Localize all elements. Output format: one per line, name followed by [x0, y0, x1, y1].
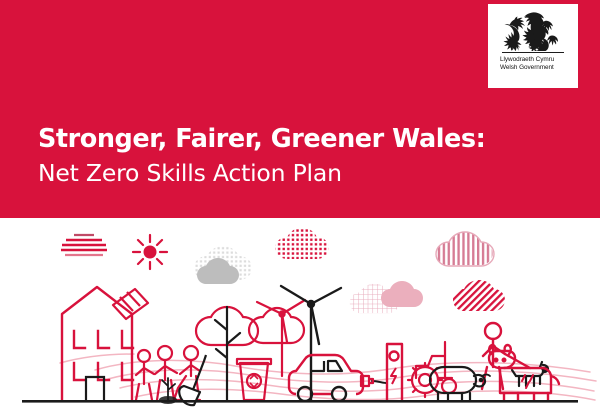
logo-text-english: Welsh Government — [500, 64, 566, 72]
charging-point-icon — [387, 344, 402, 400]
net-zero-illustration — [0, 218, 600, 416]
charging-cable-icon — [372, 381, 387, 383]
dotted-cloud-icon — [268, 224, 342, 270]
car-windows — [310, 361, 342, 371]
pink-striped-cloud-icon — [428, 228, 506, 277]
soft-pink-cloud-icon — [381, 281, 423, 307]
tree-dark-icon — [215, 307, 240, 400]
ground-line — [22, 400, 578, 403]
recycling-bin-icon — [237, 359, 271, 400]
page-subtitle: Net Zero Skills Action Plan — [38, 158, 342, 188]
welsh-dragon-icon — [502, 7, 564, 51]
striped-cloud-icon — [52, 227, 126, 269]
document-cover: Llywodraeth Cymru Welsh Government Stron… — [0, 0, 600, 416]
page-title: Stronger, Fairer, Greener Wales: — [38, 124, 485, 154]
logo-divider — [502, 52, 564, 53]
sun-icon — [133, 235, 167, 269]
tractor-icon — [408, 342, 456, 397]
logo-text-welsh: Llywodraeth Cymru — [500, 56, 566, 64]
hatched-cloud-icon — [447, 276, 517, 316]
welsh-government-logo: Llywodraeth Cymru Welsh Government — [488, 4, 578, 88]
